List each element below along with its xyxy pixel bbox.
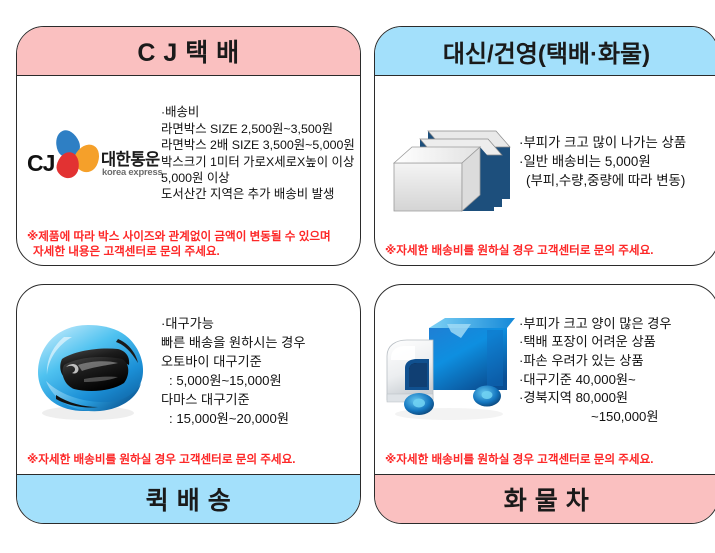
cj-logo-icon: CJ 대한통운 korea express xyxy=(27,123,155,185)
content-row: ·부피가 크고 많이 나가는 상품 ·일반 배송비는 5,000원 (부피,수량… xyxy=(375,76,715,243)
detail-lines-quick: ·대구가능 빠른 배송을 원하시는 경우 오토바이 대구기준 : 5,000원~… xyxy=(161,314,352,428)
panel-header-cj-taekbae: C J 택 배 xyxy=(17,27,360,76)
detail-line: (부피,수량,중량에 따라 변동) xyxy=(519,171,710,190)
illustration-helmet xyxy=(25,315,157,427)
illustration-stacked-boxes xyxy=(383,107,515,217)
notice-cargo-truck: ※자세한 배송비를 원하실 경우 고객센터로 문의 주세요. xyxy=(375,452,715,474)
panel-body-quick-delivery: ·대구가능 빠른 배송을 원하시는 경우 오토바이 대구기준 : 5,000원~… xyxy=(17,285,360,474)
panel-body-cj-taekbae: CJ 대한통운 korea express ·배송비 라면박스 SIZE 2,5… xyxy=(17,76,360,265)
detail-line: 다마스 대구기준 xyxy=(161,390,352,409)
content-row: CJ 대한통운 korea express ·배송비 라면박스 SIZE 2,5… xyxy=(17,76,360,229)
detail-line: : 5,000원~15,000원 xyxy=(161,371,352,390)
detail-line: 도서산간 지역은 추가 배송비 발생 xyxy=(161,186,355,202)
detail-line: ·대구기준 40,000원~ xyxy=(519,371,710,390)
detail-line: ~150,000원 xyxy=(519,408,710,427)
detail-line: 오토바이 대구기준 xyxy=(161,352,352,371)
detail-line: ·경북지역 80,000원 xyxy=(519,389,710,408)
panel-body-cargo-truck: ·부피가 크고 양이 많은 경우 ·택배 포장이 어려운 상품 ·파손 우려가 … xyxy=(375,285,715,474)
notice-line: 자세한 내용은 고객센터로 문의 주세요. xyxy=(27,244,360,259)
detail-line: ·부피가 크고 많이 나가는 상품 xyxy=(519,133,710,152)
helmet-icon xyxy=(26,315,156,427)
content-row: ·부피가 크고 양이 많은 경우 ·택배 포장이 어려운 상품 ·파손 우려가 … xyxy=(375,285,715,452)
cj-mark-text: CJ xyxy=(27,150,54,177)
panel-quick-delivery: ·대구가능 빠른 배송을 원하시는 경우 오토바이 대구기준 : 5,000원~… xyxy=(16,284,361,524)
panel-header-daesin-geonyeong: 대신/건영(택배·화물) xyxy=(375,27,715,76)
detail-line: ·택배 포장이 어려운 상품 xyxy=(519,333,710,352)
illustration-cj-logo: CJ 대한통운 korea express xyxy=(25,123,157,185)
cj-english-name: korea express xyxy=(102,166,162,177)
truck-icon xyxy=(383,316,515,426)
detail-lines-truck: ·부피가 크고 양이 많은 경우 ·택배 포장이 어려운 상품 ·파손 우려가 … xyxy=(519,315,710,427)
detail-line: ·부피가 크고 양이 많은 경우 xyxy=(519,315,710,334)
notice-line: ※제품에 따라 박스 사이즈와 관계없이 금액이 변동될 수 있으며 xyxy=(27,230,331,243)
panel-footer-quick-delivery: 퀵 배 송 xyxy=(17,474,360,523)
detail-line: ·대구가능 xyxy=(161,314,352,333)
detail-line: 빠른 배송을 원하시는 경우 xyxy=(161,333,352,352)
detail-line: ·파손 우려가 있는 상품 xyxy=(519,352,710,371)
detail-lines-daesin: ·부피가 크고 많이 나가는 상품 ·일반 배송비는 5,000원 (부피,수량… xyxy=(519,133,710,190)
panel-body-daesin-geonyeong: ·부피가 크고 많이 나가는 상품 ·일반 배송비는 5,000원 (부피,수량… xyxy=(375,76,715,265)
detail-line: 박스크기 1미터 가로X세로X높이 이상 xyxy=(161,154,355,170)
detail-line: 라면박스 SIZE 2,500원~3,500원 xyxy=(161,121,355,137)
notice-quick-delivery: ※자세한 배송비를 원하실 경우 고객센터로 문의 주세요. xyxy=(17,452,360,474)
stacked-boxes-icon xyxy=(384,107,514,217)
detail-lines-cj: ·배송비 라면박스 SIZE 2,500원~3,500원 라면박스 2배 SIZ… xyxy=(161,104,355,202)
detail-line: ·일반 배송비는 5,000원 xyxy=(519,152,710,171)
illustration-truck xyxy=(383,316,515,426)
detail-line: 라면박스 2배 SIZE 3,500원~5,000원 xyxy=(161,137,355,153)
panel-cargo-truck: ·부피가 크고 양이 많은 경우 ·택배 포장이 어려운 상품 ·파손 우려가 … xyxy=(374,284,715,524)
panel-cj-taekbae: C J 택 배 CJ 대한통운 korea express xyxy=(16,26,361,266)
shipping-info-board: C J 택 배 CJ 대한통운 korea express xyxy=(0,0,715,553)
notice-line: ※자세한 배송비를 원하실 경우 고객센터로 문의 주세요. xyxy=(27,453,295,466)
notice-line: ※자세한 배송비를 원하실 경우 고객센터로 문의 주세요. xyxy=(385,244,653,257)
panel-daesin-geonyeong: 대신/건영(택배·화물) xyxy=(374,26,715,266)
notice-daesin-geonyeong: ※자세한 배송비를 원하실 경우 고객센터로 문의 주세요. xyxy=(375,243,715,265)
panel-grid: C J 택 배 CJ 대한통운 korea express xyxy=(16,26,699,524)
content-row: ·대구가능 빠른 배송을 원하시는 경우 오토바이 대구기준 : 5,000원~… xyxy=(17,285,360,452)
notice-line: ※자세한 배송비를 원하실 경우 고객센터로 문의 주세요. xyxy=(385,453,653,466)
detail-line: ·배송비 xyxy=(161,104,355,120)
detail-line: : 15,000원~20,000원 xyxy=(161,409,352,428)
detail-line: 5,000원 이상 xyxy=(161,170,355,186)
notice-cj-taekbae: ※제품에 따라 박스 사이즈와 관계없이 금액이 변동될 수 있으며 자세한 내… xyxy=(17,229,360,265)
panel-footer-cargo-truck: 화 물 차 xyxy=(375,474,715,523)
